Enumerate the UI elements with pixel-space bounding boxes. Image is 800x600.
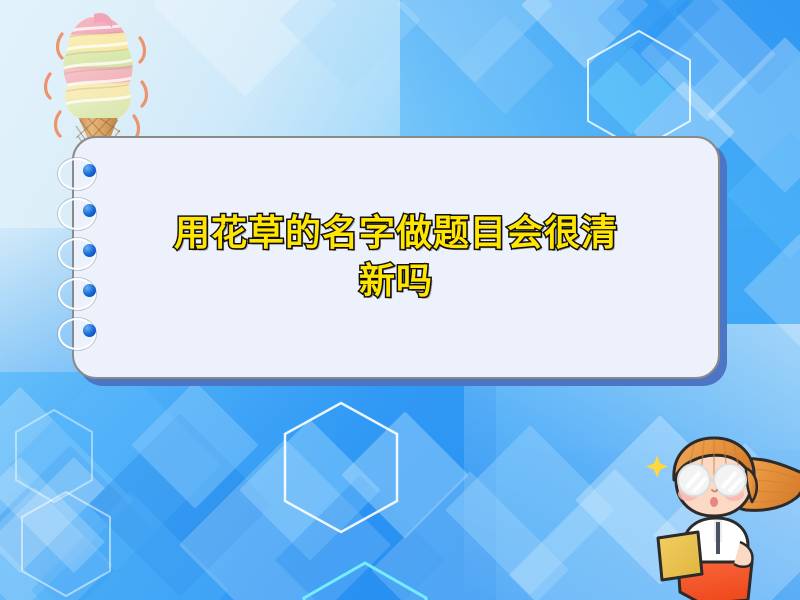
spiral-ring: [58, 278, 104, 308]
spiral-ring-bead: [83, 204, 96, 217]
background-hexagon: [584, 28, 694, 153]
spiral-ring-bead: [83, 164, 96, 177]
spiral-ring: [58, 158, 104, 188]
spiral-ring-bead: [83, 324, 96, 337]
background-hexagon: [18, 490, 114, 598]
spiral-ring-bead: [83, 244, 96, 257]
mouth: [710, 497, 718, 507]
spiral-ring-bead: [83, 284, 96, 297]
spiral-ring: [58, 318, 104, 348]
girl-illustration: [636, 432, 800, 600]
slide-canvas: 用花草的名字做题目会很清 新吗: [0, 0, 800, 600]
background-hexagon: [300, 560, 430, 600]
sparkle-icon: [646, 456, 668, 478]
note-panel: 用花草的名字做题目会很清 新吗: [72, 136, 720, 379]
spiral-ring: [58, 238, 104, 268]
background-hexagon: [281, 400, 401, 535]
page-title: 用花草的名字做题目会很清 新吗: [119, 210, 673, 305]
spiral-ring: [58, 198, 104, 228]
